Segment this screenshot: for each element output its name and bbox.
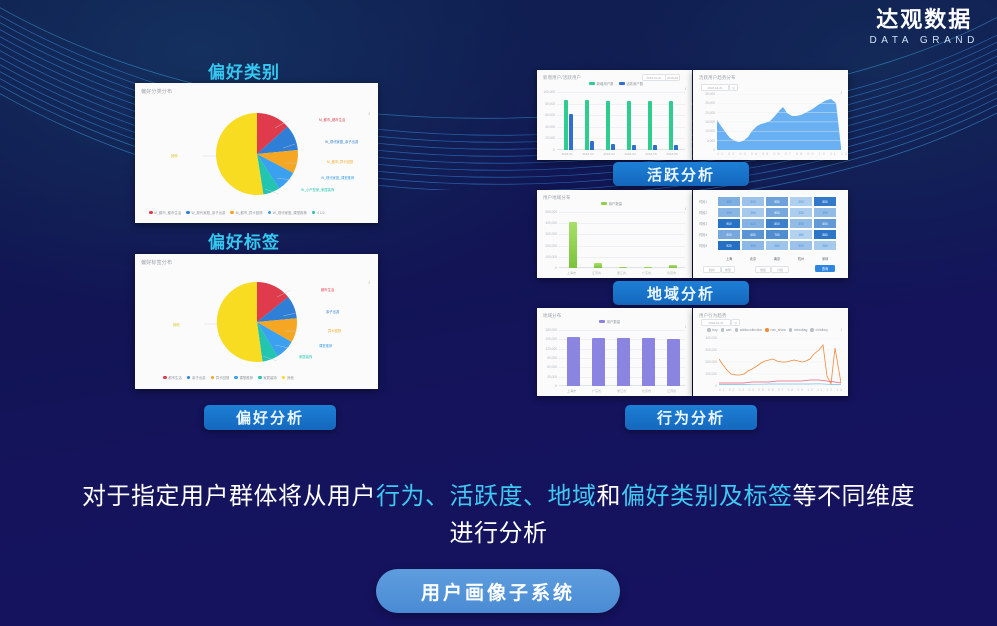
legend-label: M_都市_异卡回馈	[236, 210, 263, 215]
download-icon[interactable]: ⭳	[841, 327, 842, 334]
x-tick: 广东省	[584, 388, 609, 393]
legend-item[interactable]: 异卡回馈	[211, 375, 230, 380]
heatmap-cell[interactable]: 800	[765, 218, 789, 229]
y-tick: 400,000	[539, 221, 557, 225]
heatmap-cell[interactable]: 380	[741, 240, 765, 251]
bar-legend[interactable]: 用户数量	[599, 319, 620, 324]
pie-slice-label-4: W_小户型家_家居装饰	[301, 187, 334, 192]
heatmap-cell[interactable]: 300	[789, 240, 813, 251]
heatmap-cell[interactable]: 200	[789, 196, 813, 207]
y-tick: 200,000	[539, 244, 557, 248]
legend-item[interactable]: 新增用户数	[589, 81, 614, 86]
legend-label: childbuy	[816, 328, 828, 332]
y-tick: 100,000	[539, 90, 555, 94]
legend-item[interactable]: 用户数量	[601, 201, 622, 206]
y-tick: 100,000	[539, 255, 557, 259]
filter-dim[interactable]: 维度	[755, 266, 771, 273]
button-activity-analysis[interactable]: 活跃分析	[613, 162, 749, 186]
heatmap-col-label: 南京	[765, 256, 789, 261]
caption-highlight1: 行为、活跃度、地域	[376, 483, 597, 510]
legend-item[interactable]: W_现代家庭_亲子出游	[186, 210, 225, 215]
heatmap-row-label: 时段5	[699, 243, 707, 248]
pie-slice-label-5: 其他	[171, 153, 178, 158]
y-tick: 5,000	[695, 139, 715, 143]
filter-metric[interactable]: 指标	[703, 266, 721, 273]
legend-label: buy	[712, 328, 717, 332]
heatmap-cell[interactable]: 180	[789, 229, 813, 240]
legend-pager[interactable]: 4 1/2	[312, 211, 325, 215]
y-tick: 150,000	[539, 337, 557, 341]
card-activity-area[interactable]: 活跃用户趋势分布 2018-01-01 Q ⭳ 30,000 25,000 20…	[693, 70, 848, 160]
filter-button[interactable]: Q	[731, 319, 740, 326]
heatmap-cell[interactable]: 350	[813, 207, 837, 218]
slide-caption: 对于指定用户群体将从用户行为、活跃度、地域和偏好类别及标签等不同维度进行分析	[0, 478, 997, 552]
legend-pager-label: 4 1/2	[317, 211, 325, 215]
legend-item[interactable]: 家居装饰	[258, 375, 277, 380]
y-tick: 0	[539, 384, 557, 388]
y-tick: 20,000	[695, 111, 715, 115]
label-preference-tag: 偏好标签	[208, 228, 280, 253]
pie-slice-label-3: W_现代家庭_课堂推荐	[321, 175, 354, 180]
card-behavior-line[interactable]: 用户行为趋势 2018-01-01 Q ⭳ buy cart addtocoll…	[693, 308, 848, 396]
x-tick: 浙江省	[609, 270, 634, 275]
area-chart-activity	[717, 94, 841, 150]
heatmap-row-label: 时段4	[699, 232, 707, 237]
legend-item[interactable]: buy	[707, 328, 718, 332]
x-tick: 北京市	[634, 388, 659, 393]
x-tick: 江苏省	[584, 270, 609, 275]
slide-root: 达观数据 DATA GRAND 偏好类别 偏好标签 偏好分类分布 ⭳	[0, 0, 997, 626]
legend-item[interactable]: 都市生活	[163, 375, 182, 380]
card-behavior-bar[interactable]: 地域分布 ⭳ 用户数量 180,000 150,000 12	[537, 308, 692, 396]
caption-part2: 和	[597, 483, 622, 510]
x-tick: 2018-06	[660, 152, 684, 156]
pie-slice-label-3: 课堂推荐	[319, 343, 332, 348]
pie-legend[interactable]: 都市生活 亲子出游 异卡回馈 课堂推荐 家居装饰 其他	[163, 375, 294, 380]
y-tick: 500,000	[539, 210, 557, 214]
legend-item[interactable]: W_现代家庭_课堂推荐	[268, 210, 307, 215]
brand-name-en: DATA GRAND	[869, 35, 979, 46]
legend-label: nav_show	[771, 328, 786, 332]
legend-item[interactable]: 其他	[282, 375, 294, 380]
brand-name-cn: 达观数据	[869, 8, 979, 32]
heatmap-cell[interactable]: 250	[741, 207, 765, 218]
legend-label: 都市生活	[168, 375, 182, 380]
date-range-start[interactable]: 2018-01-01	[642, 74, 666, 81]
button-preference-analysis[interactable]: 偏好分析	[204, 405, 336, 430]
legend-label: 新增用户数	[597, 81, 614, 86]
heatmap-row-label: 时段2	[699, 210, 707, 215]
heatmap-cell[interactable]: 550	[765, 196, 789, 207]
brand-logo: 达观数据 DATA GRAND	[869, 8, 979, 46]
pie-slice-label-2: 异卡回馈	[328, 328, 341, 333]
caption-part1: 对于指定用户群体将从用户	[82, 483, 376, 510]
heatmap-cell[interactable]: 880	[813, 229, 837, 240]
legend-item[interactable]: M_都市_异卡回馈	[230, 210, 262, 215]
filter-extra[interactable]: 分组	[771, 266, 789, 273]
y-tick: 25,000	[695, 101, 715, 105]
pie-chart-category	[197, 110, 317, 198]
y-tick: 0	[539, 148, 555, 152]
y-tick: 20,000	[539, 136, 555, 140]
heatmap-col-label: 杭州	[789, 256, 813, 261]
legend-item[interactable]: 用户数量	[599, 319, 620, 324]
legend-item[interactable]: 活跃用户数	[619, 81, 644, 86]
chart-title: 偏好分类分布	[141, 88, 172, 95]
legend-label: M_都市_都市生活	[154, 210, 181, 215]
x-tick: 广东省	[634, 270, 659, 275]
chart-title: 用户地域分布	[543, 195, 571, 201]
legend-label: 家居装饰	[263, 375, 277, 380]
y-tick: 15,000	[695, 120, 715, 124]
legend-label: viewdtag	[794, 328, 807, 332]
legend-item[interactable]: childbuy	[810, 328, 828, 332]
legend-label: 亲子出游	[192, 375, 206, 380]
legend-item[interactable]: 亲子出游	[187, 375, 206, 380]
pie-slice-label-0: 都市生活	[321, 287, 334, 292]
line-chart-behavior	[719, 338, 841, 386]
legend-item[interactable]: nav_show	[765, 328, 785, 332]
pie-slice-label-4: 家居装饰	[299, 354, 312, 359]
heatmap-cell[interactable]: 700	[765, 229, 789, 240]
legend-label: 其他	[287, 375, 294, 380]
download-icon[interactable]: ⭳	[368, 280, 370, 288]
chart-title: 新增用户/活跃用户	[543, 75, 581, 81]
x-tick: 浙江省	[609, 388, 634, 393]
bar-plot-area	[557, 92, 685, 150]
line-legend[interactable]: buy cart addtocollection nav_show viewdt…	[707, 328, 828, 332]
pie-slice-label-5: 其他	[173, 322, 180, 327]
date-range-end[interactable]: 2018-06	[665, 74, 680, 81]
label-preference-category: 偏好类别	[208, 58, 280, 83]
bar-plot-area	[559, 212, 685, 268]
heatmap-cell[interactable]: 250	[813, 240, 837, 251]
legend-item[interactable]: cart	[721, 328, 732, 332]
y-tick: 30,000	[695, 92, 715, 96]
y-tick: 60,000	[539, 365, 557, 369]
y-tick: 90,000	[539, 356, 557, 360]
pie-slice-label-1: W_现代家庭_亲子出游	[325, 139, 358, 144]
legend-item[interactable]: viewdtag	[789, 328, 808, 332]
heatmap-row-label: 时段1	[699, 199, 707, 204]
pie-slice-label-0: M_都市_都市生活	[319, 117, 345, 122]
y-tick: 80,000	[539, 102, 555, 106]
card-activity-bar[interactable]: 新增用户/活跃用户 2018-01-01 2018-06 ⭳ 新增用户数 活跃用…	[537, 70, 692, 160]
bar-plot-area	[559, 330, 685, 386]
heatmap-cell[interactable]: 900	[717, 218, 741, 229]
y-tick: 100,000	[695, 372, 717, 376]
heatmap-cell[interactable]: 500	[717, 229, 741, 240]
card-region-heatmap[interactable]: 时段1 时段2 时段3 时段4 时段5 上海 北京 南京 杭州 深圳 指标 类型…	[693, 190, 848, 278]
heatmap-cell[interactable]: 500	[765, 207, 789, 218]
y-tick: 400,000	[695, 336, 717, 340]
heatmap-cell[interactable]: 420	[741, 218, 765, 229]
caption-highlight2: 偏好类别及标签	[621, 483, 793, 510]
legend-label: W_现代家庭_亲子出游	[191, 210, 225, 215]
heatmap-cell[interactable]: 280	[765, 240, 789, 251]
y-tick: 120,000	[539, 347, 557, 351]
bar-legend[interactable]: 用户数量	[601, 201, 622, 206]
filter-button[interactable]: Q	[729, 84, 738, 91]
legend-label: 活跃用户数	[626, 81, 643, 86]
pie-chart-tag	[197, 279, 317, 365]
cta-user-profile-subsystem[interactable]: 用户画像子系统	[376, 569, 620, 613]
heatmap-query-button[interactable]: 查询	[815, 265, 835, 272]
heatmap-cell[interactable]: 920	[717, 240, 741, 251]
pie-slice-label-1: 亲子出游	[326, 309, 339, 314]
y-tick: 0	[695, 384, 717, 388]
x-tick: 上海市	[559, 388, 584, 393]
heatmap-cell[interactable]: 850	[813, 196, 837, 207]
x-axis-ticks: 01 02 03 04 05 06 07 08 09 10 11 12	[717, 152, 848, 156]
filter-type[interactable]: 类型	[721, 266, 735, 273]
legend-label: W_现代家庭_课堂推荐	[273, 210, 307, 215]
heatmap-cell[interactable]: 220	[789, 207, 813, 218]
heatmap-cell[interactable]: 600	[813, 218, 837, 229]
button-behavior-analysis[interactable]: 行为分析	[625, 405, 757, 430]
heatmap-cell[interactable]: 650	[741, 229, 765, 240]
legend-item[interactable]: 课堂推荐	[234, 375, 253, 380]
bar-legend[interactable]: 新增用户数 活跃用户数	[589, 81, 643, 86]
pie-slice-label-2: M_都市_异卡回馈	[327, 159, 353, 164]
legend-label: 异卡回馈	[216, 375, 230, 380]
x-axis-ticks: 01 02 03 04 05 06 07 08 09 10 11 12 13	[719, 388, 843, 392]
x-tick: 上海市	[559, 270, 584, 275]
heatmap-row-label: 时段3	[699, 221, 707, 226]
heatmap-col-label: 北京	[741, 256, 765, 261]
card-region-bar[interactable]: 用户地域分布 ⭳ 用户数量 500,000 400,000 300,000	[537, 190, 692, 278]
heatmap-col-label: 深圳	[813, 256, 837, 261]
y-tick: 60,000	[539, 113, 555, 117]
y-tick: 300,000	[539, 232, 557, 236]
heatmap-cell[interactable]: 400	[717, 207, 741, 218]
y-tick: 40,000	[539, 125, 555, 129]
y-tick: 10,000	[695, 129, 715, 133]
y-tick: 200,000	[695, 360, 717, 364]
legend-label: addtocollection	[740, 328, 763, 332]
card-preference-category-pie[interactable]: 偏好分类分布 ⭳ M_都市_都市生活 W_现代家庭_亲子出游	[135, 83, 378, 223]
chart-title: 活跃用户趋势分布	[699, 75, 736, 81]
chart-title: 地域分布	[543, 313, 561, 319]
date-filter[interactable]: 2018-01-01	[701, 84, 729, 91]
legend-label: cart	[726, 328, 732, 332]
heatmap-col-label: 上海	[717, 256, 741, 261]
x-tick: 江苏省	[659, 388, 684, 393]
card-preference-tag-pie[interactable]: 偏好标签分布 ⭳ 都市生活 亲子出游 异卡回馈	[135, 254, 378, 389]
legend-label: 用户数量	[607, 319, 621, 324]
legend-label: 用户数量	[609, 201, 623, 206]
y-tick: 300,000	[695, 348, 717, 352]
y-tick: 180,000	[539, 328, 557, 332]
pie-legend[interactable]: M_都市_都市生活 W_现代家庭_亲子出游 M_都市_异卡回馈 W_现代家庭_课…	[149, 210, 325, 215]
heatmap-cell[interactable]: 350	[789, 218, 813, 229]
legend-label: 课堂推荐	[239, 375, 253, 380]
download-icon[interactable]: ⭳	[368, 111, 370, 119]
x-tick: 北京市	[659, 270, 684, 275]
y-tick: 30,000	[539, 375, 557, 379]
button-region-analysis[interactable]: 地域分析	[613, 281, 749, 305]
heatmap-cell[interactable]: 450	[717, 196, 741, 207]
y-tick: 0	[539, 266, 557, 270]
date-filter[interactable]: 2018-01-01	[701, 319, 731, 326]
heatmap-cell[interactable]: 300	[741, 196, 765, 207]
chart-title: 偏好标签分布	[141, 259, 172, 266]
legend-item[interactable]: M_都市_都市生活	[149, 210, 181, 215]
y-tick: 0	[695, 148, 715, 152]
legend-item[interactable]: addtocollection	[735, 328, 763, 332]
